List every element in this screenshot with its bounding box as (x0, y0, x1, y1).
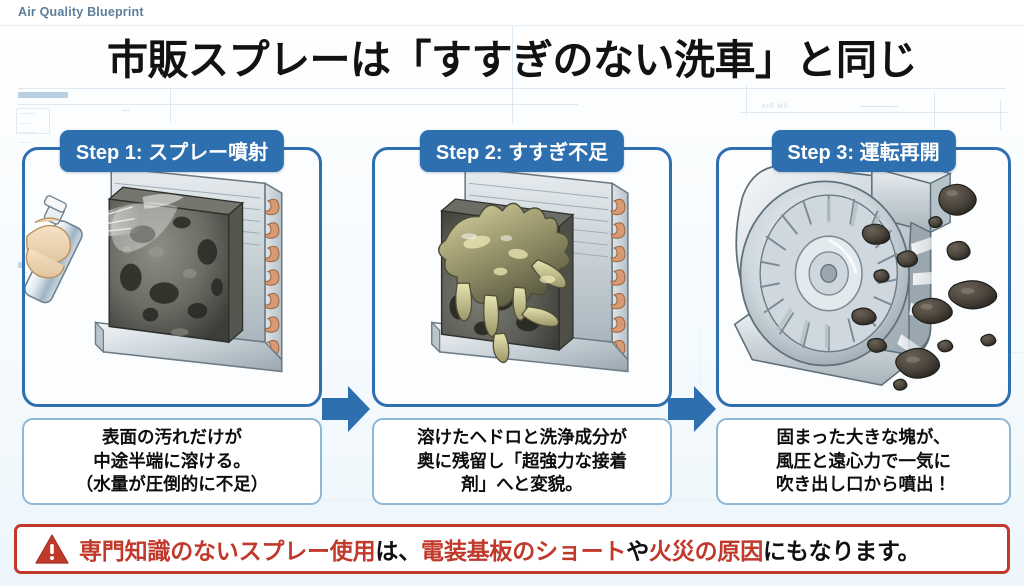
step-column-2: Step 2: すすぎ不足 溶けたヘドロと洗浄成分が 奥に残留し「超強力な接着 … (372, 130, 672, 510)
warning-text: 専門知識のないスプレー使用は、電装基板のショートや火災の原因にもなります。 (79, 532, 920, 566)
top-bar: Air Quality Blueprint (0, 0, 1024, 26)
step-1-caption-box: 表面の汚れだけが 中途半端に溶ける。 （水量が圧倒的に不足） (22, 418, 322, 505)
right-arrow-icon (322, 382, 370, 436)
step-2-caption-box: 溶けたヘドロと洗浄成分が 奥に残留し「超強力な接着 剤」へと変貌。 (372, 418, 672, 505)
warning-triangle-icon (35, 534, 69, 564)
steps-container: Step 1: スプレー噴射 表面の汚れだけが 中途半端に溶ける。 （水量が圧倒… (0, 130, 1024, 510)
step-1-illustration-panel (22, 147, 322, 407)
warning-segment-6: にもなります。 (763, 538, 920, 564)
warning-segment-3: 電装基板のショート (421, 538, 626, 564)
hand-spraying-coil-illustration (25, 150, 319, 405)
step-1-caption-text: 表面の汚れだけが 中途半端に溶ける。 （水量が圧倒的に不足） (76, 426, 269, 497)
warning-segment-5: 火災の原因 (649, 538, 763, 564)
step-column-3: Step 3: 運転再開 固まった大きな塊が、 風圧と遠心力で一気に 吹き出し口… (716, 130, 1011, 510)
melted-sludge-coil-illustration (375, 150, 669, 405)
step-2-illustration-panel (372, 147, 672, 407)
step-2-caption-text: 溶けたヘドロと洗浄成分が 奥に残留し「超強力な接着 剤」へと変貌。 (417, 426, 627, 497)
right-arrow-icon (668, 382, 716, 436)
step-3-illustration-panel (716, 147, 1011, 407)
step-2-badge: Step 2: すすぎ不足 (420, 130, 624, 172)
step-3-badge: Step 3: 運転再開 (771, 130, 955, 172)
step-3-caption-box: 固まった大きな塊が、 風圧と遠心力で一気に 吹き出し口から噴出！ (716, 418, 1011, 505)
step-column-1: Step 1: スプレー噴射 表面の汚れだけが 中途半端に溶ける。 （水量が圧倒… (22, 130, 322, 510)
background-micro-label: AIR MS (762, 104, 789, 110)
blower-fan-ejecting-debris-illustration (719, 150, 1008, 405)
step-3-caption-text: 固まった大きな塊が、 風圧と遠心力で一気に 吹き出し口から噴出！ (776, 426, 951, 497)
infographic-page: —————————— AIR MS Air Quality Blueprint … (0, 0, 1024, 586)
page-title: 市販スプレーは「すすぎのない洗車」と同じ (0, 26, 1024, 86)
warning-segment-2: は、 (375, 538, 421, 564)
arrow-step1-to-step2 (322, 382, 370, 436)
warning-banner: 専門知識のないスプレー使用は、電装基板のショートや火災の原因にもなります。 (14, 524, 1010, 574)
warning-segment-1: 専門知識のないスプレー使用 (79, 538, 375, 564)
brand-label: Air Quality Blueprint (18, 5, 144, 19)
step-1-badge: Step 1: スプレー噴射 (60, 130, 284, 172)
arrow-step2-to-step3 (668, 382, 716, 436)
warning-segment-4: や (626, 538, 649, 564)
